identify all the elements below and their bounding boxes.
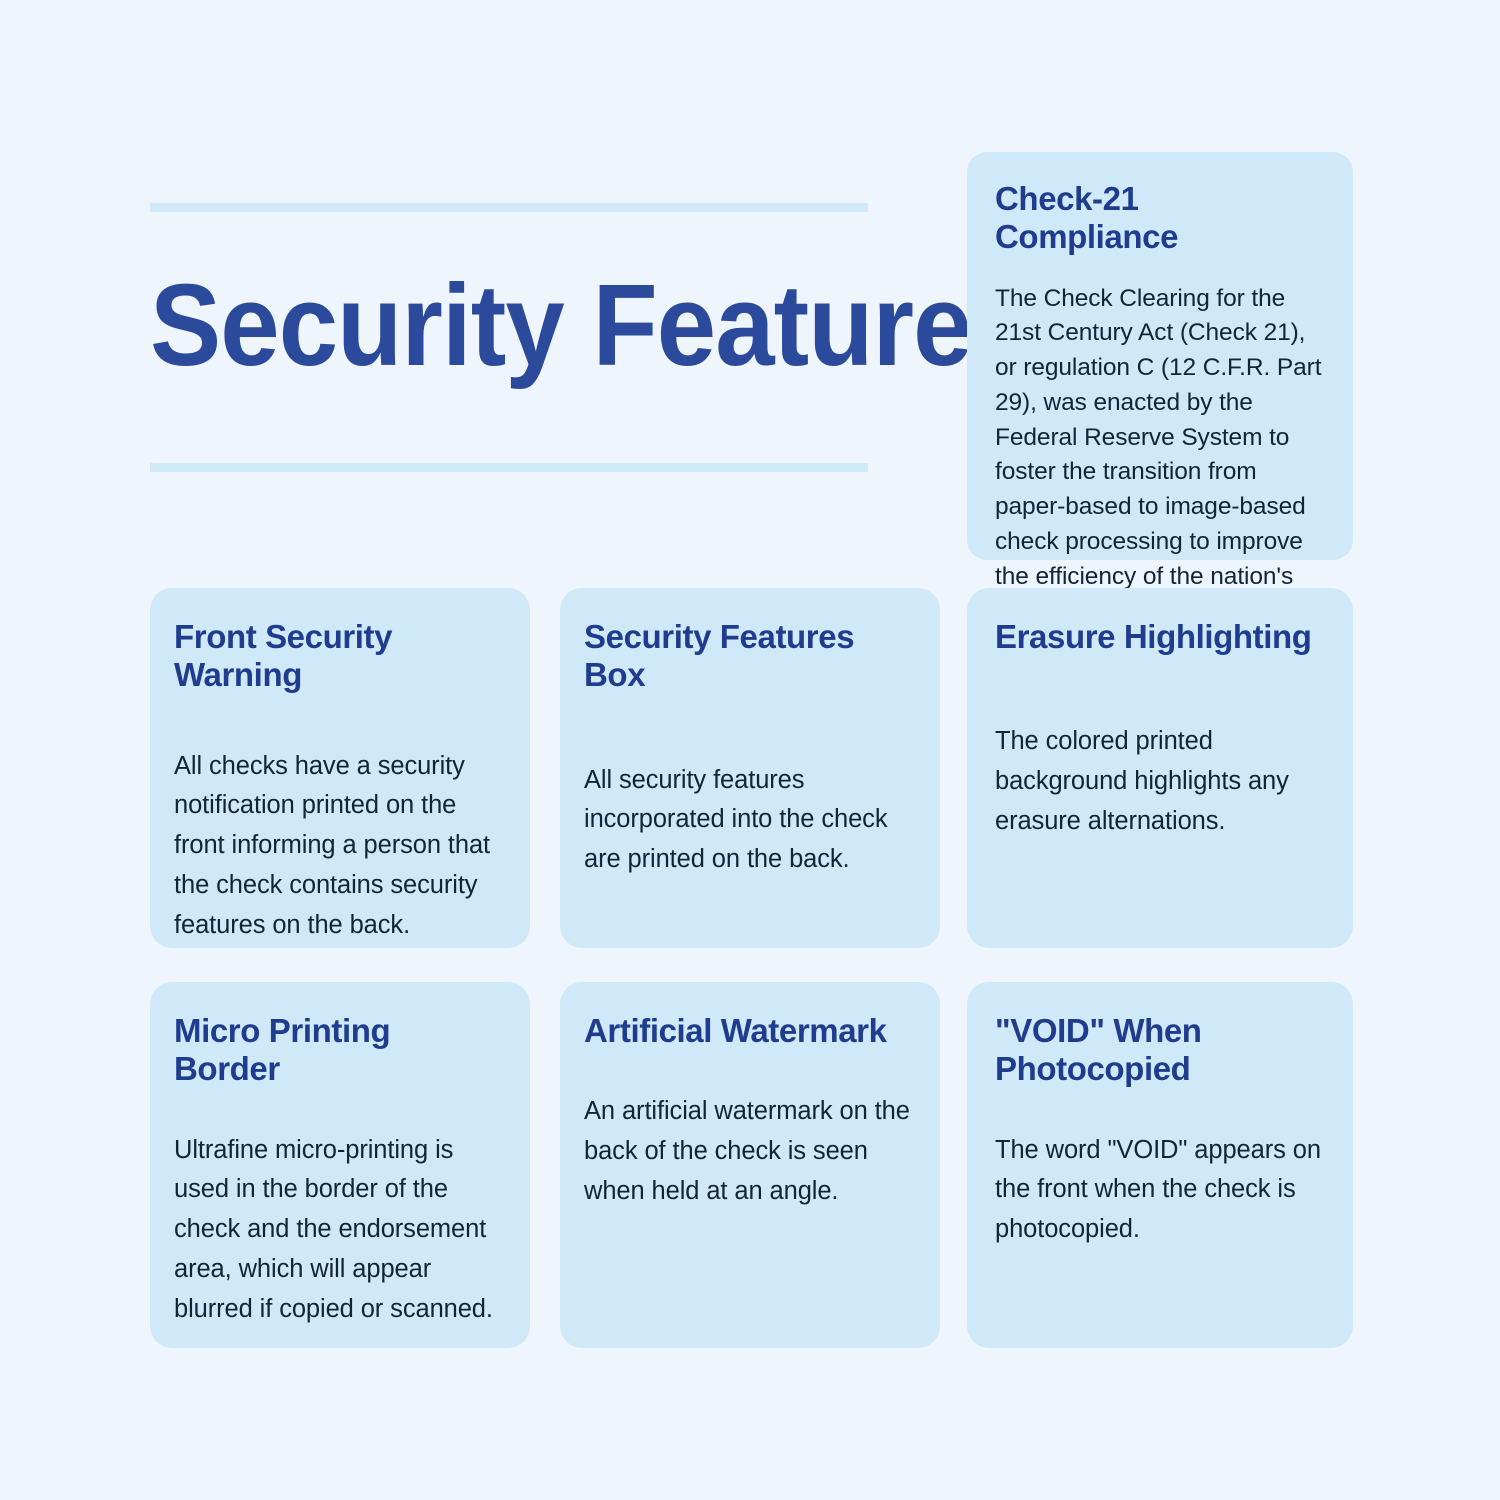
card-micro-printing-border: Micro Printing Border Ultrafine micro-pr… xyxy=(150,982,530,1348)
card-front-security-warning: Front Security Warning All checks have a… xyxy=(150,588,530,948)
card-body-void-when-photocopied: The word "VOID" appears on the front whe… xyxy=(995,1131,1323,1250)
card-artificial-watermark: Artificial Watermark An artificial water… xyxy=(560,982,940,1348)
card-check-21-compliance: Check-21 Compliance The Check Clearing f… xyxy=(967,152,1353,560)
infographic-page: Security Features Check-21 Compliance Th… xyxy=(0,0,1500,1500)
card-title-security-features-box: Security Features Box xyxy=(584,618,910,695)
page-title: Security Features xyxy=(150,267,822,383)
card-title-front-security-warning: Front Security Warning xyxy=(174,618,500,695)
card-body-front-security-warning: All checks have a security notification … xyxy=(174,747,500,946)
card-body-erasure-highlighting: The colored printed background highlight… xyxy=(995,722,1323,841)
card-title-void-when-photocopied: "VOID" When Photocopied xyxy=(995,1012,1323,1089)
title-rule-top xyxy=(150,203,868,212)
card-body-micro-printing-border: Ultrafine micro-printing is used in the … xyxy=(174,1131,500,1330)
card-title-check-21-compliance: Check-21 Compliance xyxy=(995,180,1327,257)
card-body-artificial-watermark: An artificial watermark on the back of t… xyxy=(584,1092,910,1211)
card-title-erasure-highlighting: Erasure Highlighting xyxy=(995,618,1323,656)
card-security-features-box: Security Features Box All security featu… xyxy=(560,588,940,948)
title-block: Security Features xyxy=(150,195,868,485)
card-title-artificial-watermark: Artificial Watermark xyxy=(584,1012,910,1050)
title-rule-bottom xyxy=(150,463,868,472)
card-void-when-photocopied: "VOID" When Photocopied The word "VOID" … xyxy=(967,982,1353,1348)
card-body-security-features-box: All security features incorporated into … xyxy=(584,761,910,880)
card-erasure-highlighting: Erasure Highlighting The colored printed… xyxy=(967,588,1353,948)
card-body-check-21-compliance: The Check Clearing for the 21st Century … xyxy=(995,282,1327,630)
card-title-micro-printing-border: Micro Printing Border xyxy=(174,1012,500,1089)
